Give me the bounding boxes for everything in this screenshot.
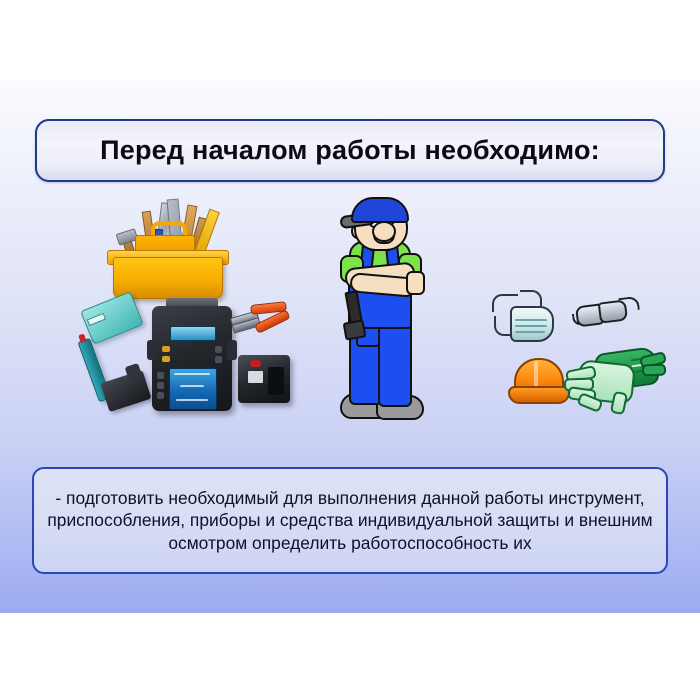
hand-tool-head-icon (343, 319, 367, 340)
cleaver-label-icon (248, 371, 263, 383)
hard-hat-ridge-icon (534, 361, 538, 389)
splicer-arm-left-icon (147, 340, 157, 360)
cap-icon (351, 197, 409, 223)
splicer-button-2-icon (215, 356, 222, 363)
note-text: - подготовить необходимый для выполнения… (42, 487, 658, 555)
cleaver-red-marker-icon (250, 360, 261, 367)
fusion-splicer-icon (152, 298, 232, 413)
cleaver-slot-icon (268, 367, 284, 395)
mask-fold-3 (515, 331, 545, 333)
splicer-nav-ok-icon (157, 392, 164, 399)
stripper-jaw-icon (87, 313, 106, 326)
note-box: - подготовить необходимый для выполнения… (32, 467, 668, 574)
splicer-button-1-icon (215, 346, 222, 353)
splicer-nav-down-icon (157, 382, 164, 389)
glove-finger-b-icon (642, 364, 666, 377)
splicer-upper-display-icon (170, 326, 216, 341)
lcd-line-3 (176, 399, 208, 401)
protective-gloves-icon (568, 350, 662, 412)
mask-fold-2 (515, 325, 547, 327)
title-box: Перед началом работы необходимо: (35, 119, 665, 182)
safety-goggles-icon (570, 294, 639, 332)
lcd-line-1 (174, 373, 210, 375)
illustration-area (0, 190, 700, 465)
glove-thumb-icon (610, 391, 628, 415)
fiber-pliers-icon (228, 295, 293, 349)
fiber-tool-black-icon (100, 370, 151, 412)
pen-tip-icon (78, 333, 86, 343)
respirator-mask-icon (492, 290, 556, 348)
mask-body-icon (510, 306, 554, 342)
fiber-tool-head-icon (125, 363, 143, 381)
mask-strap-3-icon (520, 290, 542, 306)
lcd-line-2 (180, 385, 204, 387)
worker-illustration (318, 195, 438, 425)
toolbox-illustration (105, 195, 230, 305)
hard-hat-brim-icon (508, 386, 570, 404)
page-title: Перед началом работы необходимо: (100, 135, 600, 166)
fiber-cleaver-icon (238, 355, 290, 403)
splicer-nav-up-icon (157, 372, 164, 379)
splicer-led-1-icon (162, 346, 170, 352)
splicer-body-icon (152, 306, 232, 411)
splicer-led-2-icon (162, 356, 170, 362)
splicer-lcd-icon (169, 368, 217, 410)
hard-hat-icon (508, 358, 566, 404)
goggles-lens-right-icon (598, 299, 628, 323)
mask-fold-1 (515, 319, 547, 321)
splicer-arm-right-icon (227, 340, 237, 360)
hand-right-icon (406, 271, 425, 295)
slide-canvas: Перед началом работы необходимо: (0, 80, 700, 613)
